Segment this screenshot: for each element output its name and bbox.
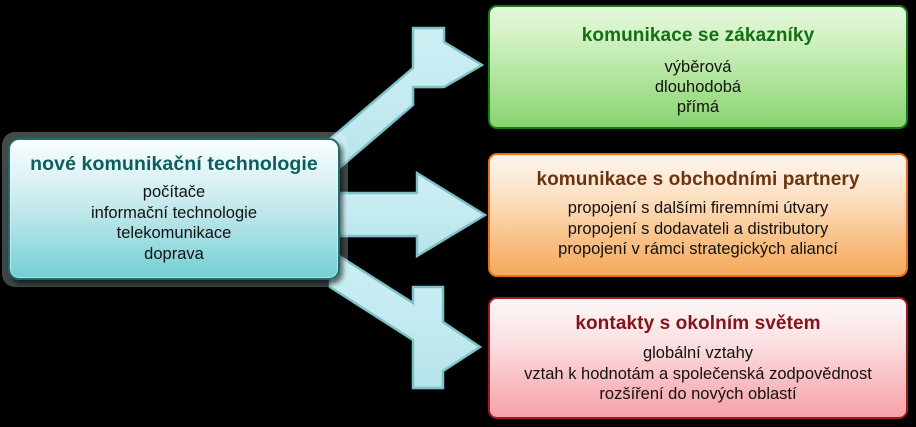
- node-customers-line: přímá: [655, 97, 741, 117]
- node-source-lines: počítače informační technologie telekomu…: [91, 182, 257, 264]
- node-source-line: informační technologie: [91, 203, 257, 224]
- node-customers-line: dlouhodobá: [655, 77, 741, 97]
- arrow-to-world: [330, 250, 480, 388]
- node-source-line: počítače: [91, 182, 257, 203]
- node-customers-line: výběrová: [655, 57, 741, 77]
- node-world-lines: globální vztahy vztah k hodnotám a spole…: [524, 343, 872, 405]
- arrow-to-partners: [330, 173, 485, 256]
- node-customers[interactable]: komunikace se zákazníky výběrová dlouhod…: [488, 5, 908, 129]
- node-partners-line: propojení s dalšími firemními útvary: [558, 198, 838, 219]
- node-outside-world[interactable]: kontakty s okolním světem globální vztah…: [488, 297, 908, 419]
- node-partners-line: propojení v rámci strategických aliancí: [558, 239, 838, 260]
- node-customers-title: komunikace se zákazníky: [582, 25, 815, 47]
- node-world-line: globální vztahy: [524, 343, 872, 364]
- node-partners-title: komunikace s obchodními partnery: [536, 169, 859, 191]
- node-partners-lines: propojení s dalšími firemními útvary pro…: [558, 198, 838, 260]
- node-customers-lines: výběrová dlouhodobá přímá: [655, 57, 741, 117]
- node-source-technologies[interactable]: nové komunikační technologie počítače in…: [8, 138, 340, 280]
- node-source-title: nové komunikační technologie: [30, 153, 318, 175]
- node-world-line: rozšíření do nových oblastí: [524, 384, 872, 405]
- node-business-partners[interactable]: komunikace s obchodními partnery propoje…: [488, 153, 908, 277]
- node-partners-line: propojení s dodavateli a distributory: [558, 219, 838, 240]
- node-source-line: doprava: [91, 244, 257, 265]
- node-world-title: kontakty s okolním světem: [575, 313, 820, 335]
- node-source-line: telekomunikace: [91, 223, 257, 244]
- node-world-line: vztah k hodnotám a společenská zodpovědn…: [524, 364, 872, 385]
- diagram-canvas: nové komunikační technologie počítače in…: [0, 0, 916, 427]
- arrow-to-customers: [330, 28, 482, 176]
